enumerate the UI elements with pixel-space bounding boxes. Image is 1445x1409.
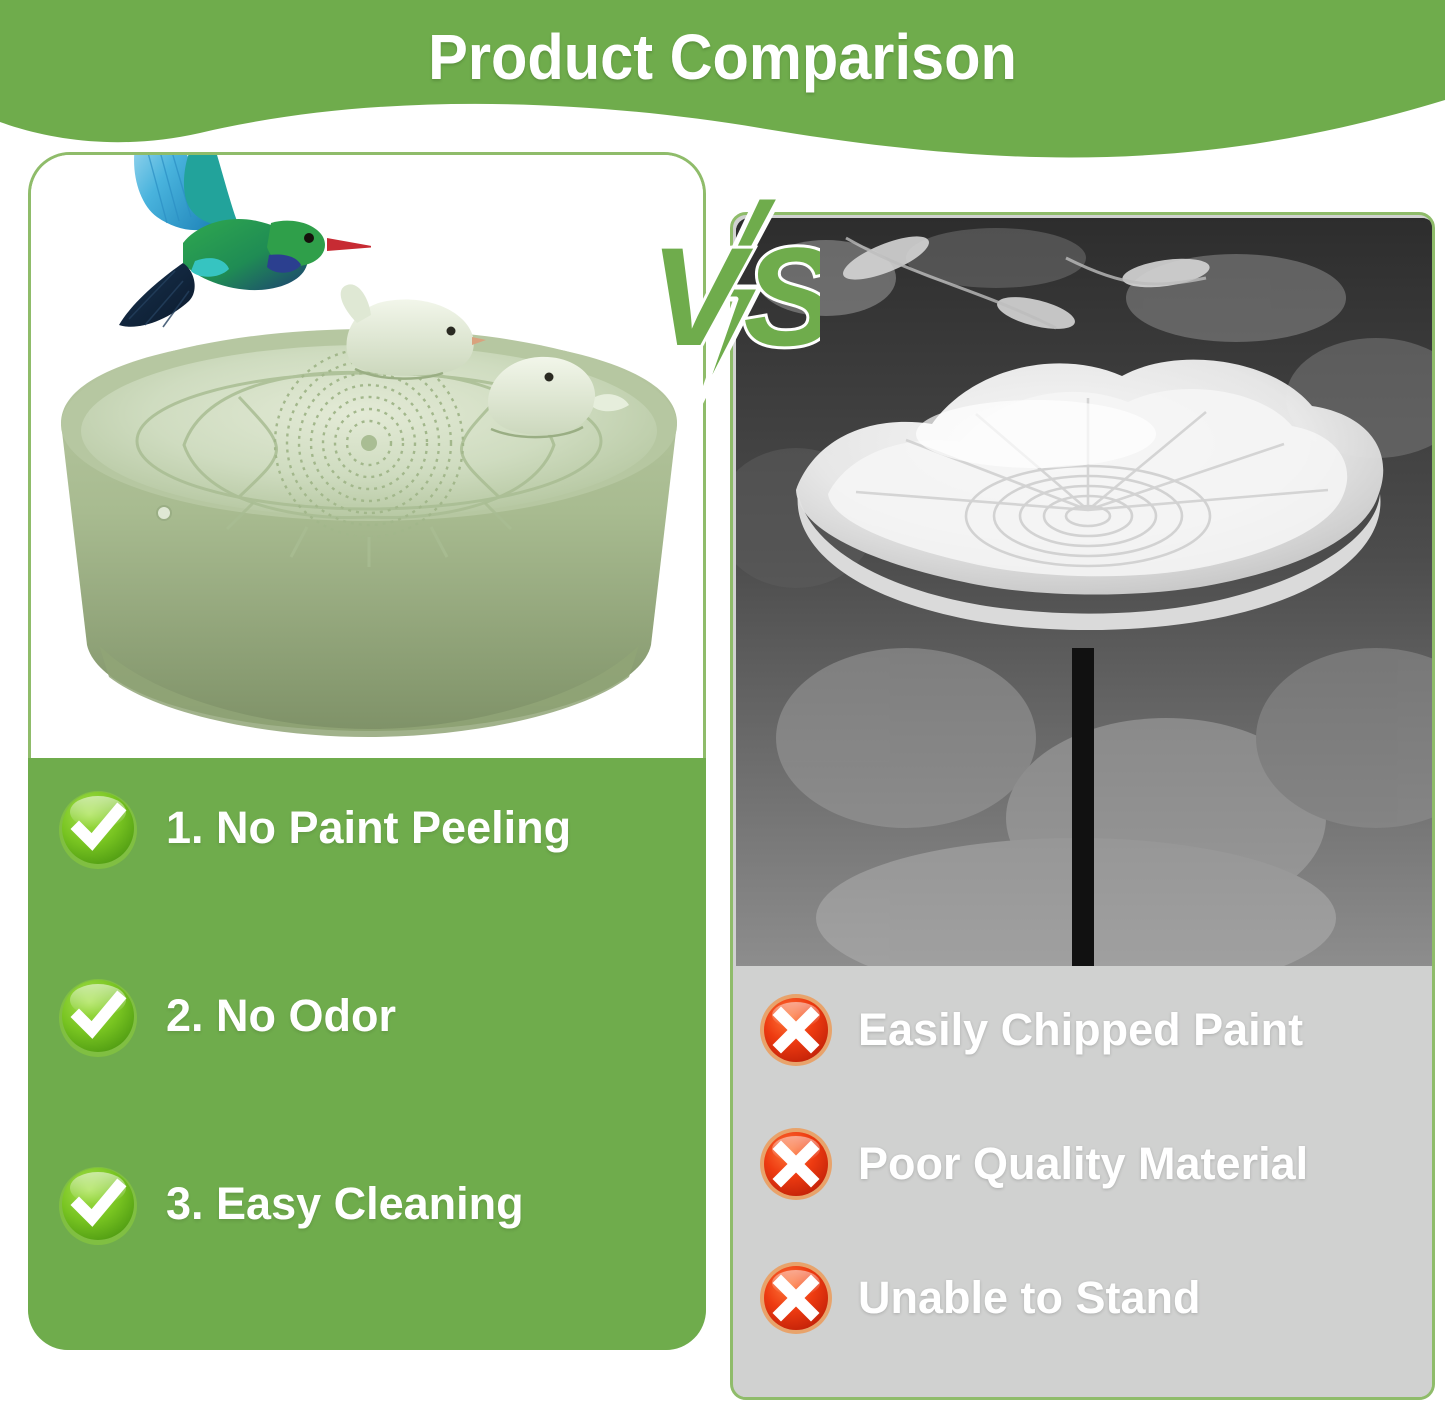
feature-item: 3. Easy Cleaning — [56, 1162, 524, 1246]
right-product-photo — [736, 218, 1435, 966]
left-features-list: 1. No Paint Peeling 2. No Odor — [28, 758, 706, 1350]
versus-badge: VS — [640, 195, 820, 410]
cross-icon — [758, 1260, 834, 1336]
drawback-item: Poor Quality Material — [758, 1126, 1308, 1202]
right-product-panel: Easily Chipped Paint Poor Quality Materi… — [730, 212, 1435, 1400]
check-icon — [56, 786, 140, 870]
left-product-photo — [31, 155, 703, 758]
drawback-item: Unable to Stand — [758, 1260, 1201, 1336]
feature-item: 2. No Odor — [56, 974, 396, 1058]
right-drawbacks-list: Easily Chipped Paint Poor Quality Materi… — [736, 966, 1435, 1400]
drawback-item: Easily Chipped Paint — [758, 992, 1303, 1068]
glass-birdbath-illustration — [736, 218, 1435, 966]
feature-label: 1. No Paint Peeling — [166, 802, 571, 854]
feature-item: 1. No Paint Peeling — [56, 786, 571, 870]
cross-icon — [758, 1126, 834, 1202]
left-product-panel: 1. No Paint Peeling 2. No Odor — [28, 152, 706, 1350]
check-icon — [56, 974, 140, 1058]
page-title: Product Comparison — [51, 20, 1395, 94]
drawback-label: Unable to Stand — [858, 1272, 1201, 1324]
versus-label: VS — [650, 218, 820, 375]
check-icon — [56, 1162, 140, 1246]
drawback-label: Poor Quality Material — [858, 1138, 1308, 1190]
hummingbird-image — [71, 155, 371, 395]
cross-icon — [758, 992, 834, 1068]
drawback-label: Easily Chipped Paint — [858, 1004, 1303, 1056]
right-panel-outline: Easily Chipped Paint Poor Quality Materi… — [730, 212, 1435, 1400]
header-banner: Product Comparison — [0, 0, 1445, 160]
feature-label: 2. No Odor — [166, 990, 396, 1042]
feature-label: 3. Easy Cleaning — [166, 1178, 524, 1230]
